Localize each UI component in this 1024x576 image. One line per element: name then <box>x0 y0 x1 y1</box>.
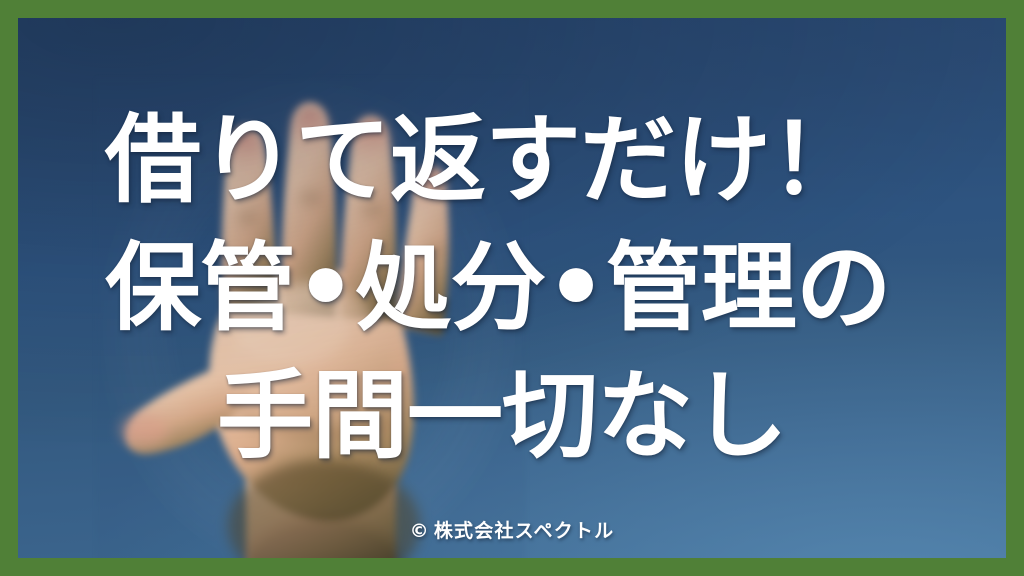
headline-block: 借りて返すだけ！ 保管•処分•管理の 手間一切なし <box>105 96 985 480</box>
copyright-icon: © <box>410 520 430 542</box>
promo-banner: 借りて返すだけ！ 保管•処分•管理の 手間一切なし ©株式会社スペクトル <box>0 0 1024 576</box>
copyright-notice: ©株式会社スペクトル <box>18 516 1006 543</box>
copyright-company: 株式会社スペクトル <box>434 520 614 542</box>
headline-line-1: 借りて返すだけ！ <box>105 96 985 224</box>
headline-line-3: 手間一切なし <box>105 352 985 480</box>
headline-line-2: 保管•処分•管理の <box>105 224 985 352</box>
photo-stage: 借りて返すだけ！ 保管•処分•管理の 手間一切なし ©株式会社スペクトル <box>18 18 1006 558</box>
